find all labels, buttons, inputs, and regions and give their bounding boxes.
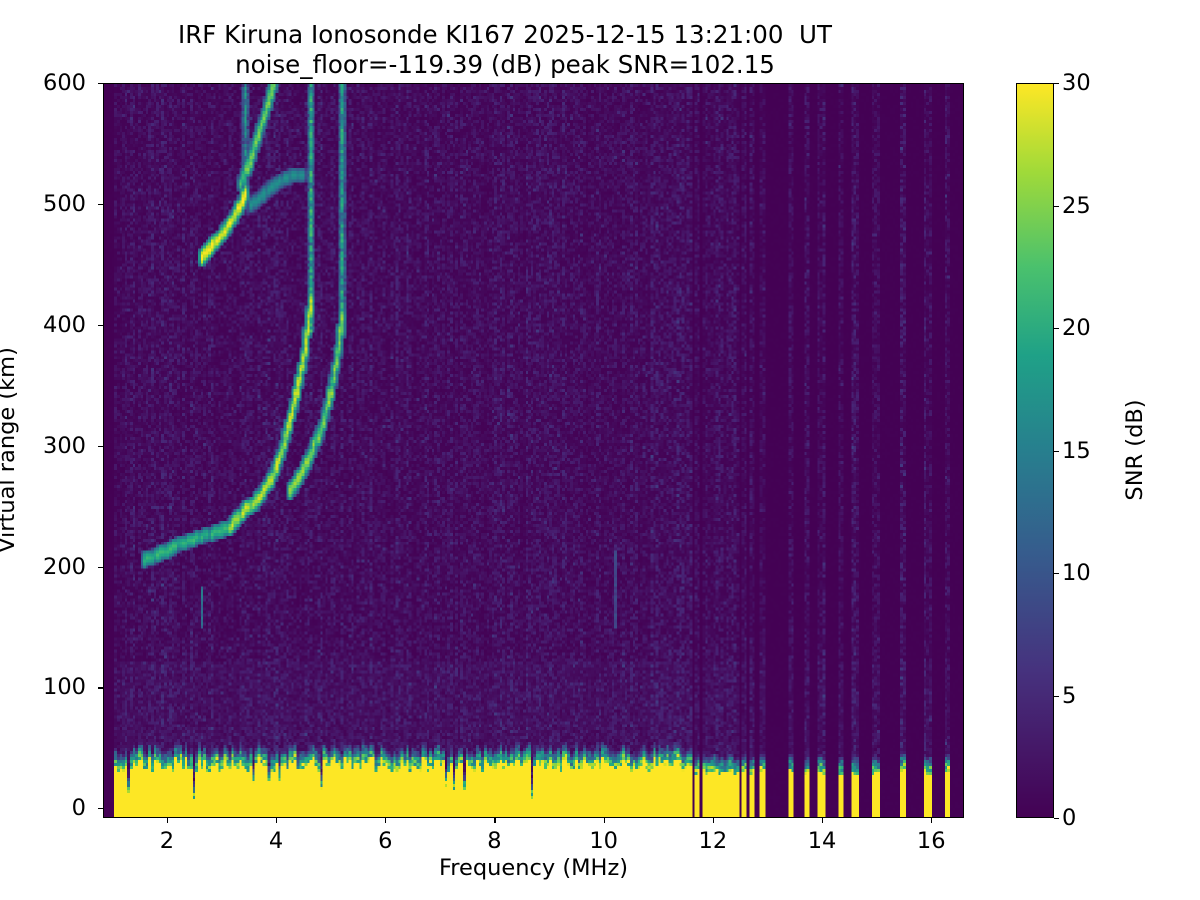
y-tick <box>98 446 103 447</box>
colorbar-tick-label: 30 <box>1062 70 1091 96</box>
colorbar-tick-label: 15 <box>1062 438 1091 464</box>
y-tick <box>98 204 103 205</box>
y-tick-label: 200 <box>43 554 86 580</box>
colorbar-tick <box>1054 83 1059 84</box>
colorbar-tick <box>1054 818 1059 819</box>
x-tick-label: 2 <box>160 828 174 854</box>
colorbar-tick-label: 20 <box>1062 315 1091 341</box>
y-tick-label: 500 <box>43 191 86 217</box>
colorbar-tick-label: 25 <box>1062 193 1091 219</box>
colorbar-tick <box>1054 696 1059 697</box>
y-tick-label: 0 <box>72 795 86 821</box>
colorbar-tick-labels: 051015202530 <box>1062 83 1122 818</box>
colorbar <box>1016 83 1054 818</box>
y-tick <box>98 325 103 326</box>
y-axis-title: Virtual range (km) <box>0 347 20 553</box>
x-tick-label: 14 <box>808 828 837 854</box>
colorbar-tick <box>1054 451 1059 452</box>
ionogram-heatmap-canvas <box>104 84 963 817</box>
y-axis-ticks <box>103 83 109 818</box>
x-tick-label: 4 <box>269 828 283 854</box>
ionogram-plot-area <box>103 83 964 818</box>
colorbar-tick <box>1054 206 1059 207</box>
y-tick <box>98 83 103 84</box>
x-tick-label: 8 <box>487 828 501 854</box>
x-axis-tick-labels: 246810121416 <box>103 819 964 859</box>
title-line-2: noise_floor=-119.39 (dB) peak SNR=102.15 <box>0 50 1010 80</box>
colorbar-tick-label: 5 <box>1062 683 1076 709</box>
ionogram-figure: IRF Kiruna Ionosonde KI167 2025-12-15 13… <box>0 0 1200 900</box>
y-tick-label: 300 <box>43 433 86 459</box>
y-tick-label: 100 <box>43 674 86 700</box>
x-tick-label: 16 <box>917 828 946 854</box>
colorbar-tick-label: 0 <box>1062 805 1076 831</box>
colorbar-ticks <box>1054 83 1060 818</box>
figure-title: IRF Kiruna Ionosonde KI167 2025-12-15 13… <box>0 20 1010 80</box>
x-axis-title: Frequency (MHz) <box>103 855 964 881</box>
colorbar-title: SNR (dB) <box>1122 399 1148 500</box>
colorbar-tick-label: 10 <box>1062 560 1091 586</box>
x-tick-label: 12 <box>699 828 728 854</box>
y-tick-label: 400 <box>43 312 86 338</box>
x-tick-label: 10 <box>589 828 618 854</box>
y-tick-label: 600 <box>43 70 86 96</box>
colorbar-tick <box>1054 573 1059 574</box>
colorbar-tick <box>1054 328 1059 329</box>
y-tick <box>98 687 103 688</box>
x-tick-label: 6 <box>378 828 392 854</box>
title-line-1: IRF Kiruna Ionosonde KI167 2025-12-15 13… <box>0 20 1010 50</box>
y-tick <box>98 808 103 809</box>
y-tick <box>98 567 103 568</box>
